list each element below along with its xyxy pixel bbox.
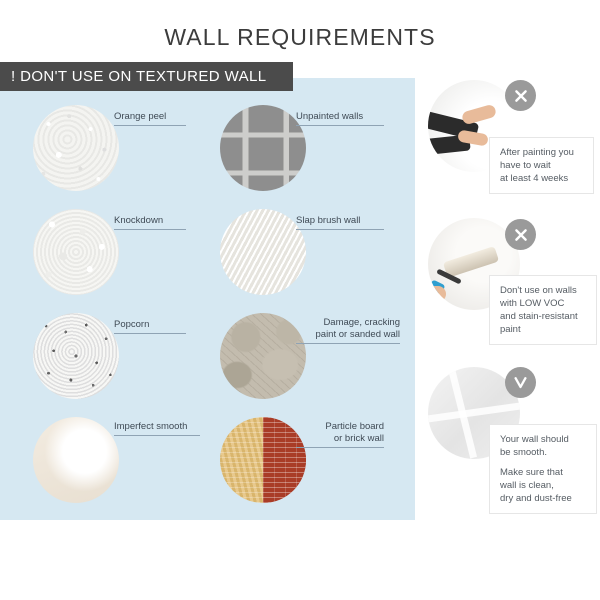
- hand-shape: [428, 286, 446, 302]
- hand-shape: [461, 103, 497, 125]
- texture-label-imperfect-smooth: Imperfect smooth: [114, 421, 200, 436]
- cross-icon: [505, 80, 536, 111]
- imperfect-smooth-swatch: [33, 417, 119, 503]
- texture-label-slap-brush-wall: Slap brush wall: [296, 215, 384, 230]
- wall-edge-shape: [428, 403, 520, 423]
- label-underline: [114, 435, 200, 436]
- card-text-low-voc: Don't use on walls with LOW VOC and stai…: [489, 275, 597, 345]
- label-underline: [296, 343, 400, 344]
- warning-banner-label: ! DON'T USE ON TEXTURED WALL: [11, 68, 267, 85]
- label-underline: [296, 229, 384, 230]
- damaged-paint-swatch: [220, 313, 306, 399]
- texture-label-orange-peel: Orange peel: [114, 111, 186, 126]
- texture-label-knockdown: Knockdown: [114, 215, 186, 230]
- texture-label-unpainted-walls: Unpainted walls: [296, 111, 384, 126]
- texture-label-particle-board-brick: Particle board or brick wall: [296, 421, 384, 448]
- label-underline: [114, 229, 186, 230]
- label-underline: [114, 125, 186, 126]
- label-underline: [296, 447, 384, 448]
- texture-label-popcorn: Popcorn: [114, 319, 186, 334]
- unpainted-walls-swatch: [220, 105, 306, 191]
- check-icon: [505, 367, 536, 398]
- warning-banner: ! DON'T USE ON TEXTURED WALL: [0, 62, 293, 91]
- cross-icon: [505, 219, 536, 250]
- label-underline: [296, 125, 384, 126]
- texture-label-damaged-paint: Damage, cracking paint or sanded wall: [296, 317, 400, 344]
- card-text-smooth-wall: Your wall should be smooth. Make sure th…: [489, 424, 597, 514]
- roller-shape: [443, 246, 499, 278]
- card-text-wait-4-weeks: After painting you have to wait at least…: [489, 137, 594, 194]
- particle-board-brick-swatch: [220, 417, 306, 503]
- knockdown-swatch: [33, 209, 119, 295]
- label-underline: [114, 333, 186, 334]
- slap-brush-wall-swatch: [220, 209, 306, 295]
- page-title: WALL REQUIREMENTS: [0, 24, 600, 51]
- popcorn-swatch: [33, 313, 119, 399]
- orange-peel-swatch: [33, 105, 119, 191]
